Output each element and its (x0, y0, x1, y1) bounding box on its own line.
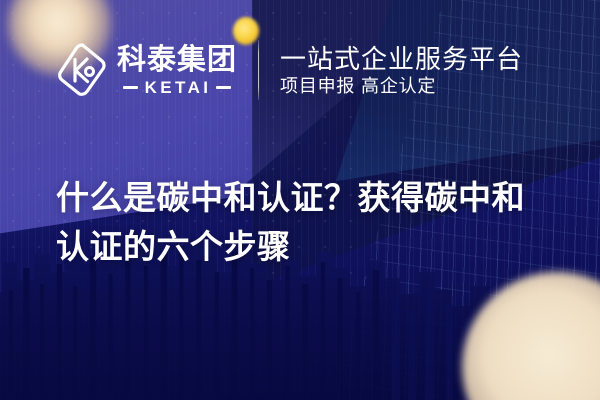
logo-chinese-name: 科泰集团 (117, 46, 237, 75)
logo-english-name: KETAI (143, 79, 212, 96)
ketai-diamond-kt-logo-icon (56, 41, 108, 99)
vertical-divider-icon (258, 40, 259, 100)
tagline-block: 一站式企业服务平台 项目申报 高企认定 (280, 44, 523, 96)
promo-banner: 科泰集团 KETAI 一站式企业服务平台 项目申报 高企认定 什么是碳中和认证？… (0, 0, 600, 400)
logo-dash-right-icon (216, 86, 231, 89)
logo-dash-left-icon (123, 86, 138, 89)
brand-header: 科泰集团 KETAI 一站式企业服务平台 项目申报 高企认定 (56, 40, 523, 100)
logo-wordmark: 科泰集团 KETAI (117, 45, 237, 96)
page-title: 什么是碳中和认证？获得碳中和认证的六个步骤 (56, 174, 536, 272)
tagline-main: 一站式企业服务平台 (280, 46, 523, 73)
company-logo[interactable]: 科泰集团 KETAI (56, 41, 237, 99)
tagline-sub: 项目申报 高企认定 (280, 77, 523, 96)
